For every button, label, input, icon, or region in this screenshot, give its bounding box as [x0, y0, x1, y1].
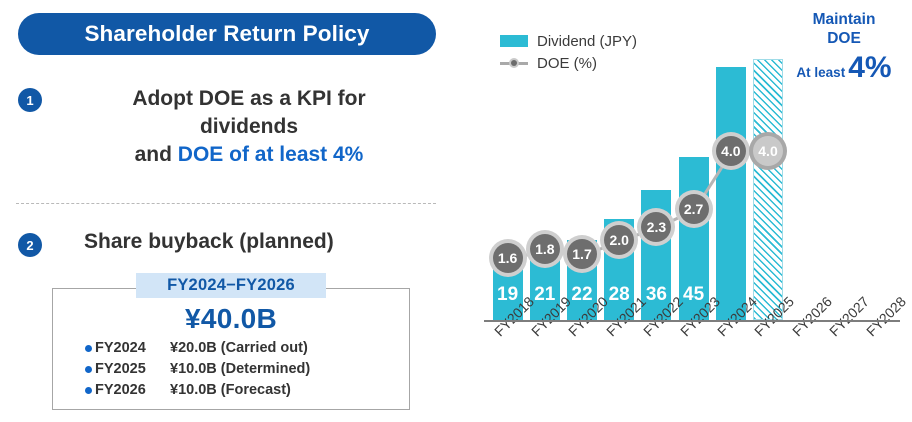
- bar-FY2025: 72: [753, 59, 783, 320]
- x-axis-tick-FY2026: FY2026: [789, 293, 835, 339]
- point-1-line-3-accent: DOE of at least 4%: [178, 143, 364, 166]
- point-1-line-2: dividends: [84, 113, 414, 141]
- policy-point-2: 2 Share buyback (planned): [18, 233, 334, 257]
- bar-FY2023: 45: [679, 157, 709, 320]
- buyback-year: FY2024: [95, 338, 170, 359]
- slide-root: Shareholder Return Policy 1 Adopt DOE as…: [0, 0, 912, 422]
- section-divider: [16, 203, 436, 204]
- doe-marker-FY2025: 4.0: [749, 132, 787, 170]
- doe-value-label: 1.6: [493, 243, 523, 273]
- buyback-amount: ¥10.0B (Determined): [170, 359, 310, 380]
- x-axis-line: [484, 320, 900, 322]
- x-axis-tick-FY2027: FY2027: [826, 293, 872, 339]
- page-title-banner: Shareholder Return Policy: [18, 13, 436, 55]
- doe-marker-FY2023: 2.7: [675, 190, 713, 228]
- dividend-doe-chart: Dividend (JPY) DOE (%) Maintain DOE At l…: [456, 0, 912, 422]
- buyback-year: FY2025: [95, 359, 170, 380]
- doe-marker-FY2024: 4.0: [712, 132, 750, 170]
- buyback-list: FY2024 ¥20.0B (Carried out) FY2025 ¥10.0…: [85, 338, 385, 401]
- point-1-badge: 1: [18, 88, 42, 112]
- point-1-line-3: and DOE of at least 4%: [84, 141, 414, 169]
- doe-value-label: 2.0: [604, 225, 634, 255]
- point-2-badge: 2: [18, 233, 42, 257]
- doe-marker-FY2019: 1.8: [526, 230, 564, 268]
- buyback-year: FY2026: [95, 380, 170, 401]
- bar-FY2024: 70: [716, 67, 746, 320]
- doe-value-label: 4.0: [753, 136, 783, 166]
- doe-marker-FY2022: 2.3: [637, 208, 675, 246]
- list-item: FY2024 ¥20.0B (Carried out): [85, 338, 385, 359]
- list-item: FY2026 ¥10.0B (Forecast): [85, 380, 385, 401]
- bullet-icon: [85, 366, 92, 373]
- doe-value-label: 1.7: [567, 239, 597, 269]
- chart-plot-area: 19212228364570721.61.81.72.02.32.74.04.0…: [456, 0, 912, 422]
- buyback-period-label: FY2024−FY2026: [136, 273, 326, 298]
- doe-marker-FY2020: 1.7: [563, 235, 601, 273]
- buyback-amount: ¥20.0B (Carried out): [170, 338, 308, 359]
- bullet-icon: [85, 345, 92, 352]
- list-item: FY2025 ¥10.0B (Determined): [85, 359, 385, 380]
- page-title: Shareholder Return Policy: [84, 21, 369, 47]
- doe-value-label: 4.0: [716, 136, 746, 166]
- policy-point-1: 1 Adopt DOE as a KPI for dividends and D…: [18, 88, 414, 169]
- point-2-heading: Share buyback (planned): [84, 230, 334, 254]
- doe-value-label: 1.8: [530, 234, 560, 264]
- point-1-line-1: Adopt DOE as a KPI for: [84, 85, 414, 113]
- doe-marker-FY2018: 1.6: [489, 239, 527, 277]
- point-1-text: Adopt DOE as a KPI for dividends and DOE…: [84, 85, 414, 169]
- buyback-total-amount: ¥40.0B: [52, 303, 410, 335]
- point-1-line-3-prefix: and: [135, 143, 178, 166]
- buyback-amount: ¥10.0B (Forecast): [170, 380, 291, 401]
- doe-value-label: 2.7: [679, 194, 709, 224]
- doe-value-label: 2.3: [641, 212, 671, 242]
- bullet-icon: [85, 387, 92, 394]
- x-axis-tick-FY2028: FY2028: [863, 293, 909, 339]
- policy-panel: Shareholder Return Policy 1 Adopt DOE as…: [0, 0, 456, 422]
